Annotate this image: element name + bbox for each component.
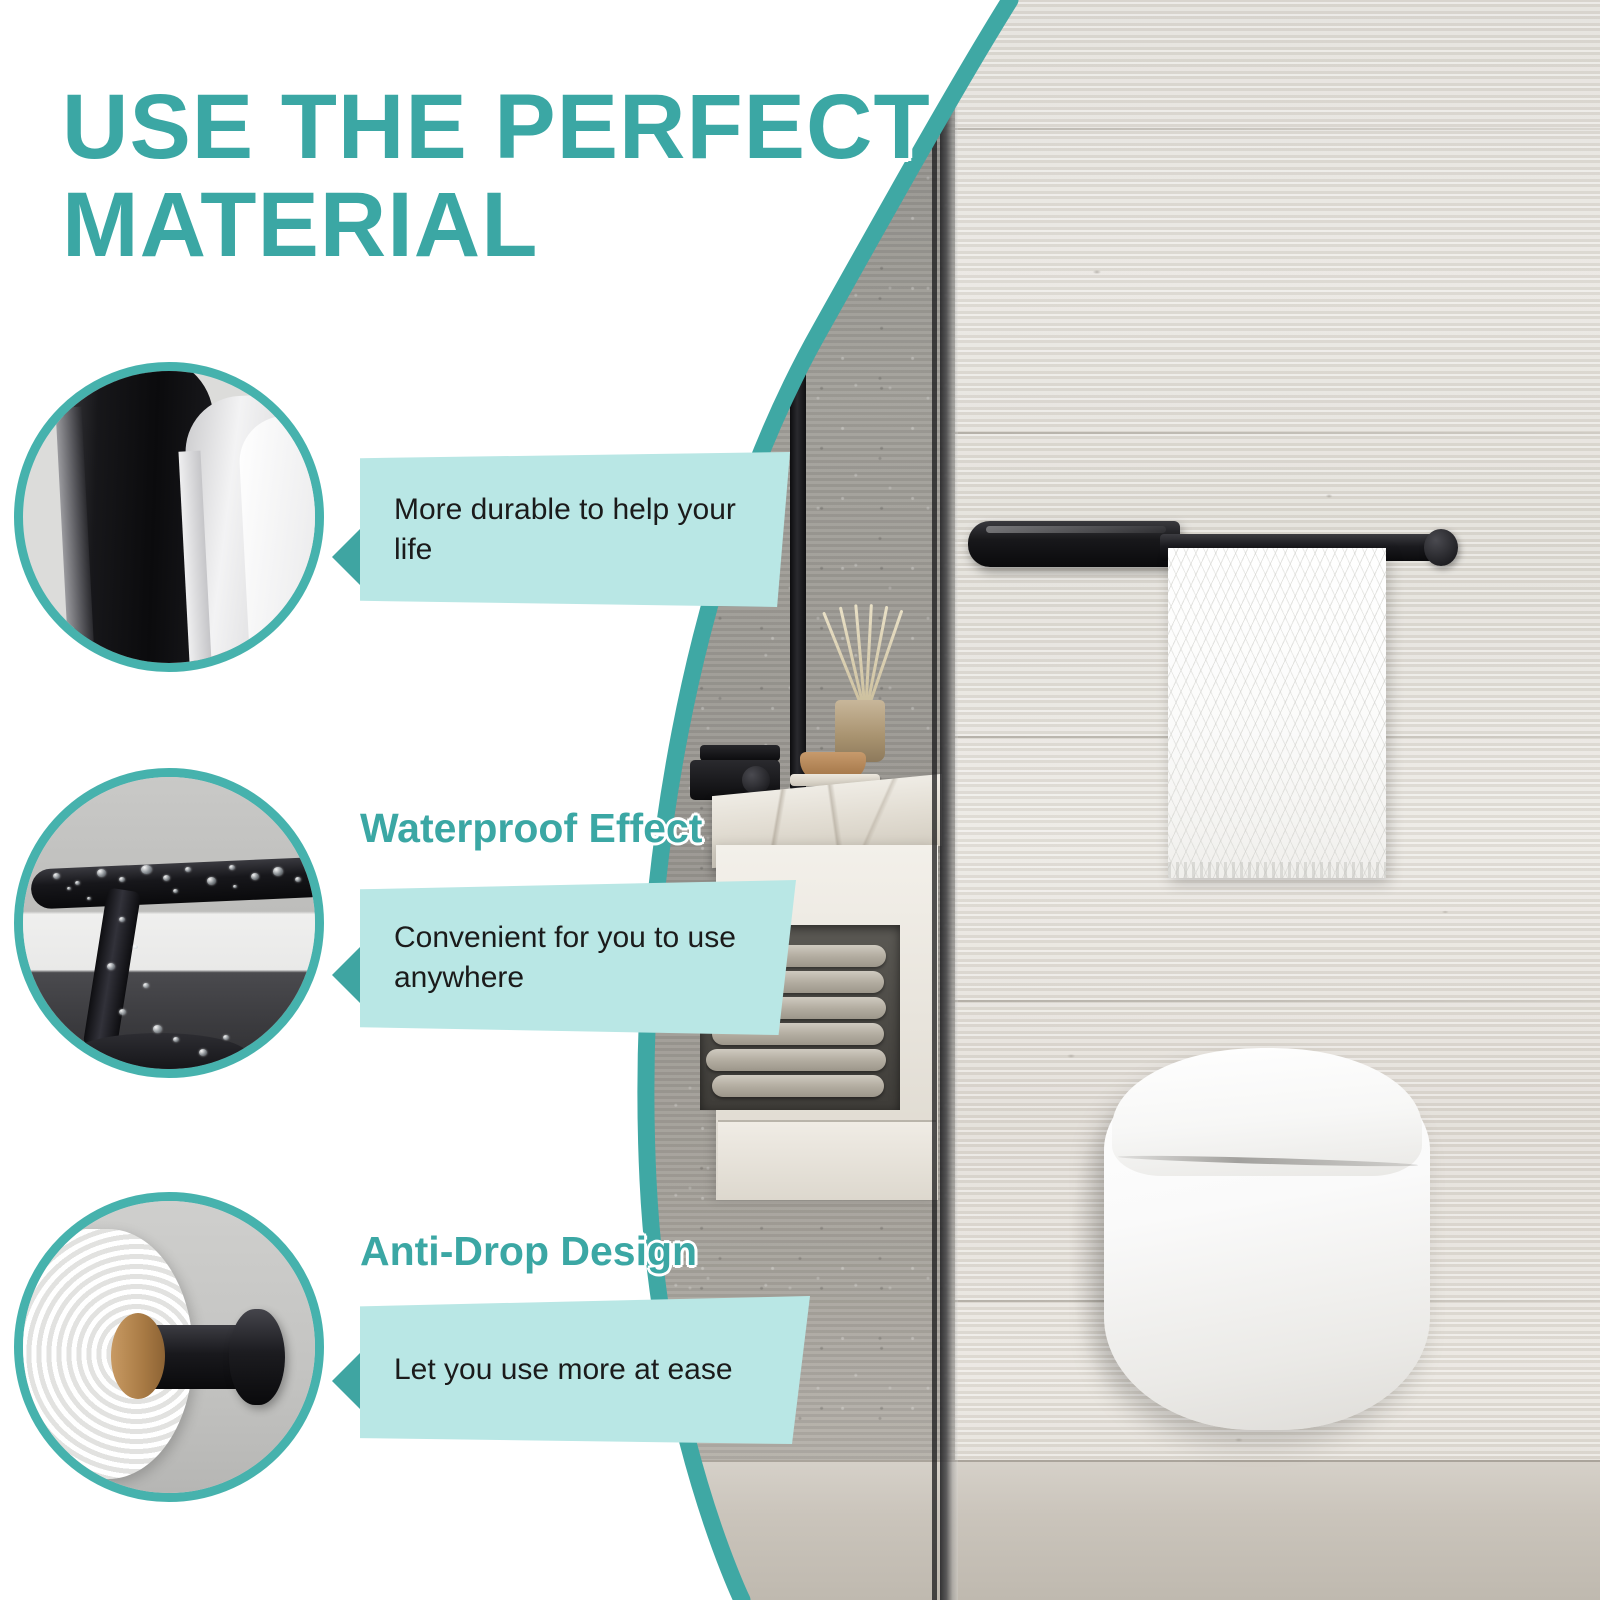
- water-droplet: [311, 869, 318, 875]
- water-droplet: [53, 873, 60, 879]
- page-title: USE THE PERFECT MATERIAL: [62, 78, 1062, 275]
- water-droplet: [97, 869, 106, 877]
- material-cross-section-photo: [14, 362, 324, 672]
- tile-seam: [955, 432, 1600, 434]
- bathroom-floor: [620, 1460, 1600, 1600]
- hanging-hand-towel: [1168, 548, 1386, 878]
- water-droplet: [247, 1047, 256, 1055]
- infographic-stage: USE THE PERFECT MATERIAL More durable to…: [0, 0, 1600, 1600]
- folded-towel: [712, 1075, 884, 1097]
- water-droplet: [119, 1009, 126, 1015]
- toilet-paper-core: [111, 1313, 165, 1399]
- water-droplet: [199, 1049, 207, 1056]
- callout-arrow-icon: [332, 528, 361, 586]
- water-droplet: [289, 1045, 296, 1051]
- callout-text-waterproof: Convenient for you to use anywhere: [394, 918, 762, 998]
- water-droplet: [153, 1025, 162, 1033]
- callout-box-anti-drop: Let you use more at ease: [360, 1296, 810, 1444]
- floor-seam: [620, 1460, 1600, 1462]
- callout-arrow-icon: [332, 1352, 361, 1410]
- shower-riser: [790, 290, 806, 790]
- tile-seam: [955, 1000, 1600, 1002]
- faucet-spout: [700, 745, 780, 761]
- callout-text-anti-drop: Let you use more at ease: [394, 1350, 733, 1390]
- vanity-drawer: [718, 1120, 936, 1200]
- feature-heading-anti-drop: Anti-Drop Design: [360, 1228, 697, 1275]
- water-droplet: [251, 873, 259, 880]
- reed-diffuser-sticks: [836, 596, 896, 716]
- water-droplets-on-bar-photo: [14, 768, 324, 1078]
- feature-heading-waterproof: Waterproof Effect: [360, 805, 702, 852]
- headline-line-2: MATERIAL: [62, 176, 1062, 274]
- water-droplet: [107, 963, 115, 970]
- robe-hook-head: [229, 1309, 285, 1405]
- droplet-scene-background: [23, 777, 315, 1069]
- black-bar-base: [69, 1033, 249, 1078]
- water-droplet: [207, 877, 216, 885]
- water-droplet: [163, 875, 170, 881]
- outer-finish-layer: [237, 412, 324, 672]
- toilet-paper-on-knob-photo: [14, 1192, 324, 1502]
- headline-line-1: USE THE PERFECT: [62, 78, 1062, 176]
- towel-bar-end-cap: [1424, 529, 1458, 566]
- towel-bar-highlight: [986, 526, 1166, 533]
- water-droplet: [273, 867, 283, 876]
- folded-towel: [706, 1049, 886, 1071]
- callout-text-durability: More durable to help your life: [394, 490, 756, 570]
- callout-box-waterproof: Convenient for you to use anywhere: [360, 880, 796, 1035]
- callout-box-durability: More durable to help your life: [360, 452, 790, 607]
- shower-arm-icon: [700, 290, 800, 305]
- faucet-knob: [742, 766, 770, 794]
- callout-arrow-icon: [332, 946, 361, 1004]
